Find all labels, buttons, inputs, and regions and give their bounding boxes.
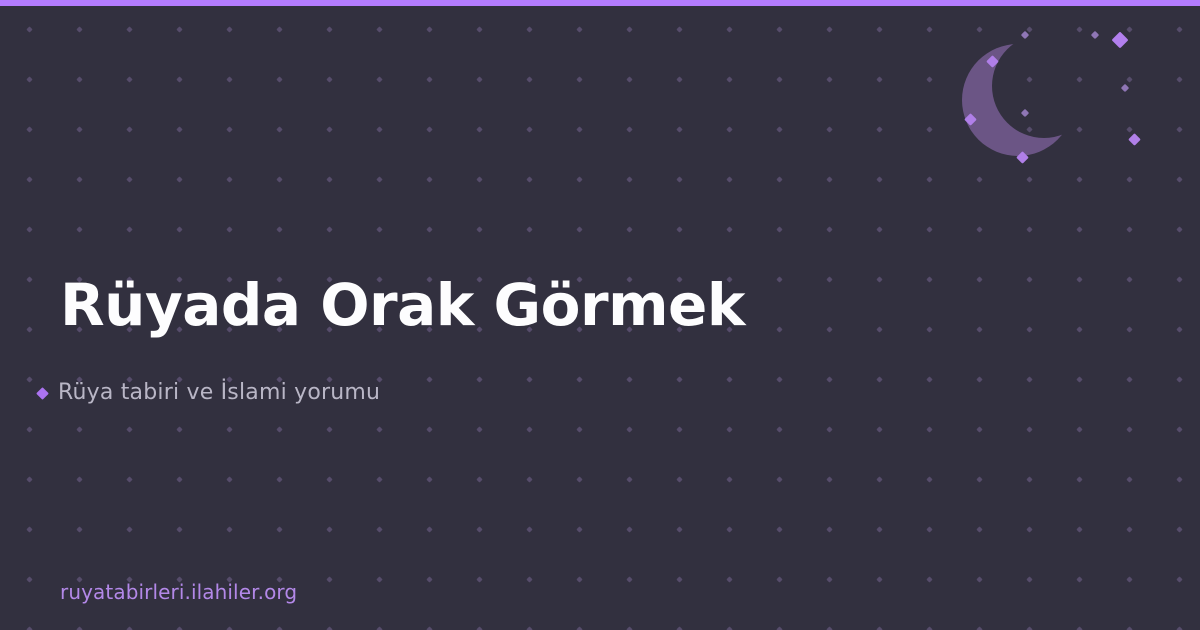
background-star-dot	[626, 376, 632, 382]
background-star-dot	[176, 126, 182, 132]
background-star-dot	[1176, 126, 1182, 132]
background-star-dot	[976, 476, 982, 482]
background-star-dot	[976, 526, 982, 532]
background-star-dot	[476, 176, 482, 182]
background-star-dot	[826, 526, 832, 532]
background-star-dot	[1126, 176, 1132, 182]
background-star-dot	[226, 76, 232, 82]
background-star-dot	[1176, 326, 1182, 332]
background-star-dot	[926, 476, 932, 482]
four-point-star-icon	[1128, 133, 1141, 146]
background-star-dot	[726, 126, 732, 132]
background-star-dot	[126, 476, 132, 482]
background-star-dot	[26, 126, 32, 132]
background-star-dot	[1176, 626, 1182, 630]
background-star-dot	[376, 126, 382, 132]
background-star-dot	[776, 476, 782, 482]
background-star-dot	[476, 426, 482, 432]
background-star-dot	[1176, 426, 1182, 432]
background-star-dot	[1176, 26, 1182, 32]
background-star-dot	[676, 126, 682, 132]
background-star-dot	[326, 26, 332, 32]
background-star-dot	[926, 376, 932, 382]
crescent-moon-icon	[962, 18, 1162, 183]
background-star-dot	[1076, 376, 1082, 382]
background-star-dot	[426, 126, 432, 132]
background-star-dot	[626, 526, 632, 532]
background-star-dot	[326, 76, 332, 82]
background-star-dot	[526, 76, 532, 82]
background-star-dot	[526, 176, 532, 182]
background-star-dot	[1126, 526, 1132, 532]
background-star-dot	[426, 426, 432, 432]
background-star-dot	[676, 526, 682, 532]
background-star-dot	[426, 476, 432, 482]
background-star-dot	[826, 176, 832, 182]
background-star-dot	[1076, 526, 1082, 532]
background-star-dot	[926, 126, 932, 132]
page-title: Rüyada Orak Görmek	[60, 272, 745, 339]
background-star-dot	[876, 276, 882, 282]
background-star-dot	[726, 176, 732, 182]
background-star-dot	[276, 626, 282, 630]
background-star-dot	[576, 626, 582, 630]
background-star-dot	[726, 376, 732, 382]
background-star-dot	[26, 626, 32, 630]
background-star-dot	[76, 76, 82, 82]
background-star-dot	[426, 76, 432, 82]
background-star-dot	[1176, 226, 1182, 232]
background-star-dot	[1076, 626, 1082, 630]
background-star-dot	[476, 626, 482, 630]
background-star-dot	[26, 226, 32, 232]
four-point-star-icon	[964, 113, 977, 126]
four-point-star-icon	[1021, 31, 1029, 39]
background-star-dot	[676, 426, 682, 432]
background-star-dot	[26, 176, 32, 182]
background-star-dot	[1026, 476, 1032, 482]
background-star-dot	[176, 76, 182, 82]
background-star-dot	[26, 526, 32, 532]
background-star-dot	[1126, 26, 1132, 32]
background-star-dot	[676, 176, 682, 182]
background-star-dot	[1026, 76, 1032, 82]
background-star-dot	[976, 376, 982, 382]
background-star-dot	[1126, 126, 1132, 132]
background-star-dot	[926, 576, 932, 582]
background-star-dot	[626, 426, 632, 432]
four-point-star-icon	[1016, 151, 1029, 164]
background-star-dot	[576, 526, 582, 532]
background-star-dot	[926, 176, 932, 182]
background-star-dot	[876, 626, 882, 630]
background-star-dot	[1176, 526, 1182, 532]
footer-site-url: ruyatabirleri.ilahiler.org	[60, 580, 297, 604]
background-star-dot	[476, 476, 482, 482]
background-star-dot	[176, 226, 182, 232]
background-star-dot	[26, 76, 32, 82]
background-star-dot	[976, 326, 982, 332]
background-star-dot	[376, 576, 382, 582]
background-star-dot	[826, 576, 832, 582]
background-star-dot	[476, 26, 482, 32]
background-star-dot	[576, 126, 582, 132]
background-star-dot	[426, 526, 432, 532]
background-star-dot	[1026, 176, 1032, 182]
background-star-dot	[926, 526, 932, 532]
background-star-dot	[276, 176, 282, 182]
background-star-dot	[1026, 276, 1032, 282]
background-star-dot	[876, 26, 882, 32]
background-star-dot	[576, 426, 582, 432]
background-star-dot	[326, 576, 332, 582]
og-banner-card: Rüyada Orak Görmek Rüya tabiri ve İslami…	[0, 0, 1200, 630]
background-star-dot	[926, 426, 932, 432]
background-star-dot	[876, 326, 882, 332]
background-star-dot	[676, 626, 682, 630]
background-star-dot	[626, 26, 632, 32]
background-star-dot	[626, 626, 632, 630]
background-star-dot	[126, 76, 132, 82]
background-star-dot	[1076, 276, 1082, 282]
background-star-dot	[726, 476, 732, 482]
background-star-dot	[26, 376, 32, 382]
background-star-dot	[1126, 576, 1132, 582]
background-star-dot	[776, 126, 782, 132]
background-star-dot	[1176, 276, 1182, 282]
background-star-dot	[576, 376, 582, 382]
background-star-dot	[1126, 426, 1132, 432]
background-star-dot	[76, 526, 82, 532]
background-star-dot	[76, 176, 82, 182]
background-star-dot	[526, 426, 532, 432]
background-star-dot	[126, 26, 132, 32]
background-star-dot	[776, 576, 782, 582]
background-star-dot	[526, 376, 532, 382]
background-star-dot	[526, 476, 532, 482]
background-star-dot	[1076, 426, 1082, 432]
background-star-dot	[326, 476, 332, 482]
background-star-dot	[826, 226, 832, 232]
background-star-dot	[726, 626, 732, 630]
background-star-dot	[676, 76, 682, 82]
background-star-dot	[1026, 626, 1032, 630]
background-star-dot	[926, 626, 932, 630]
background-star-dot	[576, 26, 582, 32]
background-star-dot	[1126, 226, 1132, 232]
background-star-dot	[1026, 376, 1032, 382]
background-star-dot	[1026, 226, 1032, 232]
background-star-dot	[326, 426, 332, 432]
background-star-dot	[1076, 576, 1082, 582]
background-star-dot	[776, 426, 782, 432]
background-star-dot	[26, 26, 32, 32]
background-star-dot	[876, 526, 882, 532]
background-star-dot	[26, 426, 32, 432]
background-star-dot	[76, 226, 82, 232]
background-star-dot	[1076, 176, 1082, 182]
background-star-dot	[676, 376, 682, 382]
background-star-dot	[576, 76, 582, 82]
top-accent-bar	[0, 0, 1200, 6]
background-star-dot	[1176, 476, 1182, 482]
background-star-dot	[1076, 26, 1082, 32]
background-star-dot	[876, 576, 882, 582]
background-star-dot	[626, 476, 632, 482]
background-star-dot	[776, 376, 782, 382]
background-star-dot	[826, 426, 832, 432]
background-star-dot	[926, 226, 932, 232]
background-star-dot	[426, 176, 432, 182]
background-star-dot	[576, 476, 582, 482]
background-star-dot	[176, 176, 182, 182]
background-star-dot	[776, 326, 782, 332]
background-star-dot	[976, 426, 982, 432]
background-star-dot	[476, 76, 482, 82]
background-star-dot	[576, 576, 582, 582]
background-star-dot	[276, 226, 282, 232]
background-star-dot	[626, 176, 632, 182]
background-star-dot	[876, 426, 882, 432]
background-star-dot	[1176, 76, 1182, 82]
background-star-dot	[326, 526, 332, 532]
four-point-star-icon	[1112, 32, 1129, 49]
background-star-dot	[376, 26, 382, 32]
background-star-dot	[826, 626, 832, 630]
background-star-dot	[876, 176, 882, 182]
background-star-dot	[226, 626, 232, 630]
background-star-dot	[176, 26, 182, 32]
background-star-dot	[426, 376, 432, 382]
background-star-dot	[676, 226, 682, 232]
background-star-dot	[226, 126, 232, 132]
background-star-dot	[876, 76, 882, 82]
background-star-dot	[526, 126, 532, 132]
background-star-dot	[1076, 126, 1082, 132]
background-star-dot	[926, 326, 932, 332]
background-star-dot	[1026, 426, 1032, 432]
background-star-dot	[826, 126, 832, 132]
background-star-dot	[426, 576, 432, 582]
background-star-dot	[226, 476, 232, 482]
background-star-dot	[726, 576, 732, 582]
background-star-dot	[76, 476, 82, 482]
background-star-dot	[676, 26, 682, 32]
subtitle-row: Rüya tabiri ve İslami yorumu	[38, 379, 380, 408]
background-star-dot	[1126, 476, 1132, 482]
moon-and-stars-decoration	[962, 18, 1162, 183]
background-star-dot	[1176, 376, 1182, 382]
background-star-dot	[1026, 326, 1032, 332]
background-star-dot	[126, 226, 132, 232]
background-star-dot	[1026, 576, 1032, 582]
background-star-dot	[826, 476, 832, 482]
background-star-dot	[376, 476, 382, 482]
background-star-dot	[226, 176, 232, 182]
background-star-dot	[626, 576, 632, 582]
background-star-dot	[626, 126, 632, 132]
background-star-dot	[826, 26, 832, 32]
background-star-dot	[976, 576, 982, 582]
background-star-dot	[276, 76, 282, 82]
background-star-dot	[376, 426, 382, 432]
background-star-dot	[776, 26, 782, 32]
background-star-dot	[826, 76, 832, 82]
background-star-dot	[1026, 26, 1032, 32]
background-star-dot	[1076, 476, 1082, 482]
background-star-dot	[776, 76, 782, 82]
background-star-dot	[76, 126, 82, 132]
background-star-dot	[476, 376, 482, 382]
background-star-dot	[526, 26, 532, 32]
background-star-dot	[926, 276, 932, 282]
background-star-dot	[1076, 226, 1082, 232]
background-star-dot	[176, 476, 182, 482]
background-star-dot	[426, 26, 432, 32]
background-star-dot	[1076, 326, 1082, 332]
background-star-dot	[976, 126, 982, 132]
background-star-dot	[1126, 626, 1132, 630]
background-star-dot	[726, 526, 732, 532]
subtitle-text: Rüya tabiri ve İslami yorumu	[58, 379, 380, 408]
background-star-dot	[976, 626, 982, 630]
background-star-dot	[576, 226, 582, 232]
background-star-dot	[1026, 526, 1032, 532]
background-star-dot	[376, 176, 382, 182]
background-star-dot	[926, 76, 932, 82]
background-star-dot	[376, 626, 382, 630]
background-star-dot	[826, 276, 832, 282]
background-star-dot	[876, 376, 882, 382]
background-star-dot	[226, 426, 232, 432]
background-star-dot	[176, 626, 182, 630]
background-star-dot	[26, 276, 32, 282]
background-star-dot	[976, 26, 982, 32]
background-star-dot	[126, 126, 132, 132]
background-star-dot	[776, 276, 782, 282]
background-star-dot	[126, 426, 132, 432]
background-star-dot	[726, 226, 732, 232]
background-star-dot	[426, 626, 432, 630]
background-star-dot	[1076, 76, 1082, 82]
background-star-dot	[1026, 126, 1032, 132]
background-star-dot	[76, 626, 82, 630]
background-star-dot	[876, 476, 882, 482]
background-star-dot	[476, 576, 482, 582]
background-star-dot	[276, 476, 282, 482]
four-point-star-icon	[1021, 109, 1029, 117]
background-star-dot	[826, 376, 832, 382]
background-star-dot	[626, 76, 632, 82]
background-star-dot	[76, 26, 82, 32]
background-star-dot	[276, 426, 282, 432]
background-star-dot	[476, 526, 482, 532]
background-star-dot	[876, 126, 882, 132]
background-star-dot	[476, 226, 482, 232]
background-star-dot	[526, 576, 532, 582]
background-star-dot	[376, 226, 382, 232]
background-star-dot	[726, 76, 732, 82]
background-star-dot	[426, 226, 432, 232]
background-star-dot	[276, 26, 282, 32]
background-star-dot	[76, 426, 82, 432]
background-star-dot	[526, 526, 532, 532]
background-star-dot	[1126, 376, 1132, 382]
background-star-dot	[876, 226, 882, 232]
background-star-dot	[326, 626, 332, 630]
background-star-dot	[176, 426, 182, 432]
background-star-dot	[26, 476, 32, 482]
background-star-dot	[376, 76, 382, 82]
background-star-dot	[126, 526, 132, 532]
background-star-dot	[826, 326, 832, 332]
background-star-dot	[1126, 276, 1132, 282]
background-star-dot	[226, 226, 232, 232]
background-star-dot	[26, 576, 32, 582]
background-star-dot	[726, 26, 732, 32]
background-star-dot	[26, 326, 32, 332]
background-star-dot	[376, 526, 382, 532]
background-star-dot	[226, 526, 232, 532]
background-star-dot	[676, 576, 682, 582]
four-point-star-icon	[986, 55, 999, 68]
background-star-dot	[776, 226, 782, 232]
background-star-dot	[976, 276, 982, 282]
four-point-star-icon	[1091, 31, 1099, 39]
background-star-dot	[726, 426, 732, 432]
background-star-dot	[926, 26, 932, 32]
background-star-dot	[526, 626, 532, 630]
diamond-bullet-icon	[36, 387, 49, 400]
background-star-dot	[976, 176, 982, 182]
background-star-dot	[276, 526, 282, 532]
background-star-dot	[1126, 76, 1132, 82]
background-star-dot	[176, 526, 182, 532]
background-star-dot	[476, 126, 482, 132]
background-star-dot	[276, 126, 282, 132]
background-star-dot	[776, 526, 782, 532]
background-star-dot	[226, 26, 232, 32]
background-star-dot	[326, 176, 332, 182]
four-point-star-icon	[1121, 84, 1129, 92]
background-star-dot	[626, 226, 632, 232]
background-star-dot	[776, 626, 782, 630]
background-star-dot	[126, 626, 132, 630]
background-star-dot	[976, 76, 982, 82]
background-star-dot	[576, 176, 582, 182]
background-star-dot	[1176, 576, 1182, 582]
background-star-dot	[976, 226, 982, 232]
background-star-dot	[526, 226, 532, 232]
background-star-dot	[126, 176, 132, 182]
background-star-dot	[326, 126, 332, 132]
background-star-dot	[326, 226, 332, 232]
background-star-dot	[676, 476, 682, 482]
background-star-dot	[776, 176, 782, 182]
background-star-dot	[1126, 326, 1132, 332]
background-star-dot	[1176, 176, 1182, 182]
